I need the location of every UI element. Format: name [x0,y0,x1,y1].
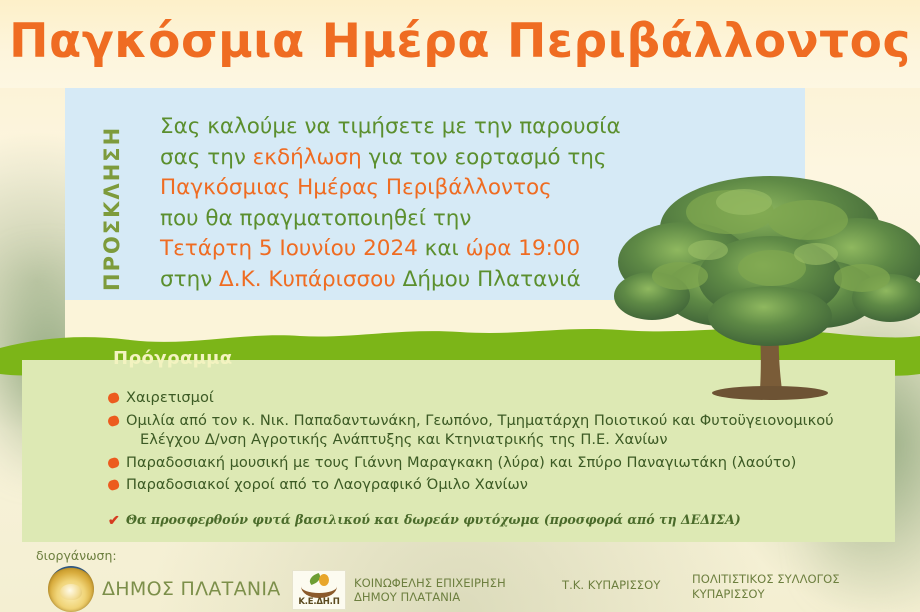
program-item: Παραδοσιακή μουσική με τους Γιάννη Μαραγ… [108,453,898,473]
invitation-text: Σας καλούμε να τιμήσετε με την παρουσίασ… [160,112,680,295]
invitation-line: στην Δ.Κ. Κυπάρισσου Δήμου Πλατανιά [160,265,680,296]
program-item: Ομιλία από τον κ. Νικ. Παπαδαντωνάκη, Γε… [108,411,898,450]
invitation-segment: εκδήλωση [253,145,362,170]
footer: διοργάνωση: ΔΗΜΟΣ ΠΛΑΤΑΝΙΑ Κ.Ε.ΔΗ.Π ΚΟΙΝ… [0,542,920,612]
program-item-text: Παραδοσιακοί χοροί από το Λαογραφικό Όμι… [126,476,528,493]
bullet-icon [107,456,121,469]
footer-entry-name: ΚΟΙΝΩΦΕΛΗΣ ΕΠΙΧΕΙΡΗΣΗ [354,576,506,591]
footer-entry-kedip-text: ΚΟΙΝΩΦΕΛΗΣ ΕΠΙΧΕΙΡΗΣΗ ΔΗΜΟΥ ΠΛΑΤΑΝΙΑ [354,576,506,605]
footer-entry-kedip: Κ.Ε.ΔΗ.Π ΚΟΙΝΩΦΕΛΗΣ ΕΠΙΧΕΙΡΗΣΗ ΔΗΜΟΥ ΠΛΑ… [292,570,506,610]
program-note: ✔ Θα προσφερθούν φυτά βασιλικού και δωρε… [108,512,826,527]
program-item-text: Παραδοσιακή μουσική με τους Γιάννη Μαραγ… [126,454,796,471]
invitation-segment: σας την [160,145,253,170]
invitation-segment: και [418,236,466,261]
program-item-text: Χαιρετισμοί [126,389,214,406]
program-list: ΧαιρετισμοίΟμιλία από τον κ. Νικ. Παπαδα… [108,388,898,498]
invitation-line: Σας καλούμε να τιμήσετε με την παρουσία [160,112,680,143]
program-heading: Πρόγραμμα [113,348,232,369]
invitation-segment: Δήμου Πλατανιά [396,267,581,292]
invitation-segment: Δ.Κ. Κυπάρισσου [219,267,396,292]
footer-entry-name: Τ.Κ. ΚΥΠΑΡΙΣΣΟΥ [562,578,660,593]
footer-entry-line2: ΚΥΠΑΡΙΣΣΟΥ [692,587,840,602]
kedip-logo-icon: Κ.Ε.ΔΗ.Π [292,570,346,610]
invitation-segment: για τον εορτασμό της [362,145,607,170]
organizer-label: διοργάνωση: [36,548,117,563]
bullet-icon [107,392,121,405]
invitation-line: Παγκόσμιας Ημέρας Περιβάλλοντος [160,173,680,204]
invitation-segment: ώρα 19:00 [466,236,581,261]
invitation-segment: στην [160,267,219,292]
poster-root: Παγκόσμια Ημέρα Περιβάλλοντος [0,0,920,612]
program-item-continuation: Ελέγχου Δ/νση Αγροτικής Ανάπτυξης και Κτ… [126,430,898,450]
bullet-icon [107,414,121,427]
footer-entry-municipality: ΔΗΜΟΣ ΠΛΑΤΑΝΙΑ [48,566,281,612]
invitation-segment: Παγκόσμιας Ημέρας Περιβάλλοντος [160,175,552,200]
footer-entry-cultural-association: ΠΟΛΙΤΙΣΤΙΚΟΣ ΣΥΛΛΟΓΟΣ ΚΥΠΑΡΙΣΣΟΥ [692,572,840,601]
kedip-logo-caption: Κ.Ε.ΔΗ.Π [293,597,345,607]
footer-entry-tk-kyparissou: Τ.Κ. ΚΥΠΑΡΙΣΣΟΥ [562,578,660,593]
program-item: Χαιρετισμοί [108,388,898,408]
program-item: Παραδοσιακοί χοροί από το Λαογραφικό Όμι… [108,475,898,495]
municipality-seal-icon [48,566,94,612]
invitation-vertical-label: ΠΡΟΣΚΛΗΣΗ [96,108,128,308]
invitation-segment: Σας καλούμε να τιμήσετε με την παρουσία [160,114,621,139]
page-title: Παγκόσμια Ημέρα Περιβάλλοντος [0,14,920,69]
invitation-segment: που θα πραγματοποιηθεί την [160,206,471,231]
program-item-text: Ομιλία από τον κ. Νικ. Παπαδαντωνάκη, Γε… [126,412,834,429]
invitation-line: που θα πραγματοποιηθεί την [160,204,680,235]
footer-entry-name: ΔΗΜΟΣ ΠΛΑΤΑΝΙΑ [102,582,281,597]
program-note-text: Θα προσφερθούν φυτά βασιλικού και δωρεάν… [126,512,741,527]
footer-entry-name: ΠΟΛΙΤΙΣΤΙΚΟΣ ΣΥΛΛΟΓΟΣ [692,572,840,587]
invitation-segment: Τετάρτη 5 Ιουνίου 2024 [160,236,418,261]
footer-entry-line2: ΔΗΜΟΥ ΠΛΑΤΑΝΙΑ [354,590,506,605]
footer-entry-cultural-text: ΠΟΛΙΤΙΣΤΙΚΟΣ ΣΥΛΛΟΓΟΣ ΚΥΠΑΡΙΣΣΟΥ [692,572,840,601]
invitation-line: Τετάρτη 5 Ιουνίου 2024 και ώρα 19:00 [160,234,680,265]
invitation-line: σας την εκδήλωση για τον εορτασμό της [160,143,680,174]
bullet-icon [107,479,121,492]
check-icon: ✔ [108,513,120,529]
